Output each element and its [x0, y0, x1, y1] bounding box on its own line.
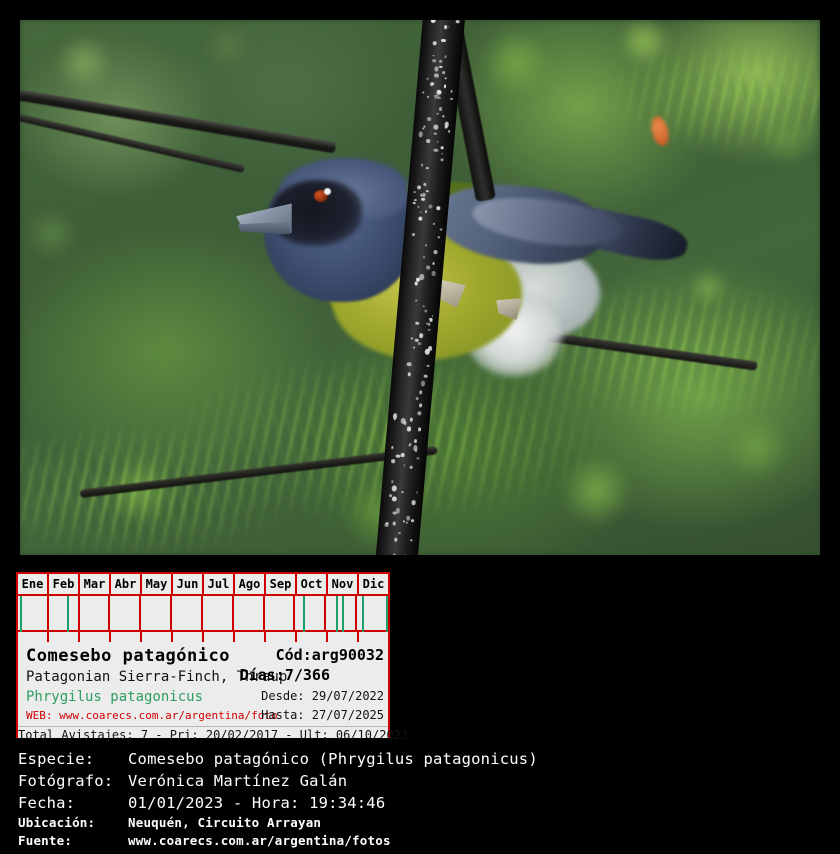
branch-speckle: [422, 91, 424, 93]
branch-speckle: [413, 347, 415, 349]
branch-speckle: [432, 271, 436, 276]
branch-speckle: [432, 59, 436, 63]
calendar-col-feb: [49, 596, 80, 630]
sighting-tick: [386, 596, 388, 632]
branch-speckle: [441, 153, 443, 155]
branch-speckle: [391, 485, 396, 491]
branch-speckle: [436, 206, 441, 210]
ubicacion-value: Neuquén, Circuito Arrayan: [128, 814, 321, 832]
calendar-col-mar: [80, 596, 111, 630]
branch-speckle: [396, 454, 401, 458]
branch-speckle: [423, 256, 425, 259]
branch-speckle: [416, 491, 418, 493]
branch-speckle: [434, 95, 438, 99]
branch-speckle: [393, 413, 398, 419]
calendar-foot-may: [142, 632, 173, 642]
branch-speckle: [424, 309, 427, 313]
branch-speckle: [431, 315, 433, 317]
branch-speckle: [391, 480, 394, 483]
branch-speckle: [448, 26, 450, 28]
branch-speckle: [422, 193, 425, 196]
branch-speckle: [448, 130, 450, 133]
branch-speckle: [417, 186, 421, 190]
branch-speckle: [421, 163, 424, 166]
branch-speckle: [413, 201, 416, 203]
branch-speckle: [456, 20, 459, 23]
branch-speckle: [419, 132, 423, 138]
calendar-month-abr: Abr: [111, 574, 142, 594]
branch-speckle: [419, 404, 423, 408]
fotografo-label: Fotógrafo:: [18, 770, 128, 792]
branch-speckle: [418, 216, 422, 221]
calendar-month-oct: Oct: [297, 574, 328, 594]
branch-speckle: [426, 265, 430, 269]
branch-speckle: [444, 78, 446, 80]
branch-speckle: [401, 491, 403, 493]
branch-speckle: [439, 107, 443, 111]
branch-speckle: [413, 439, 417, 443]
branch-speckle: [426, 323, 428, 325]
branch-speckle: [434, 133, 437, 136]
calendar-sighting-track: [18, 596, 388, 632]
branch-speckle: [391, 446, 394, 449]
branch-speckle: [432, 262, 435, 265]
calendar-foot-jul: [204, 632, 235, 642]
calendar-col-sep: [265, 596, 296, 630]
branch-speckle: [427, 364, 429, 367]
branch-speckle: [434, 148, 439, 152]
especie-label: Especie:: [18, 748, 128, 770]
calendar-foot-oct: [297, 632, 328, 642]
branch-speckle: [420, 274, 425, 280]
calendar-month-nov: Nov: [328, 574, 359, 594]
branch-speckle: [433, 250, 437, 255]
branch-speckle: [395, 508, 400, 514]
metadata-row-ubicacion: Ubicación: Neuquén, Circuito Arrayan: [18, 814, 822, 832]
branch-speckle: [418, 411, 422, 415]
calendar-month-dic: Dic: [359, 574, 388, 594]
branch-speckle: [423, 305, 425, 307]
especie-value: Comesebo patagónico (Phrygilus patagonic…: [128, 748, 538, 770]
range-to: Hasta: 27/07/2025: [261, 709, 384, 721]
branch-speckle: [415, 450, 417, 453]
calendar-col-jun: [172, 596, 203, 630]
calendar-col-may: [141, 596, 172, 630]
common-name: Comesebo patagónico: [26, 648, 230, 665]
fecha-value: 01/01/2023 - Hora: 19:34:46: [128, 792, 385, 814]
branch-speckle: [442, 71, 446, 74]
branch-speckle: [423, 183, 426, 186]
branch-speckle: [426, 190, 428, 192]
branch-speckle: [432, 41, 437, 46]
branch-speckle: [420, 380, 425, 386]
sighting-tick: [303, 596, 305, 632]
branch-speckle: [428, 204, 432, 208]
branch-speckle: [407, 362, 412, 367]
sighting-tick: [20, 596, 22, 632]
calendar-month-may: May: [142, 574, 173, 594]
calendar-footer-grid: [18, 632, 388, 642]
branch-speckle: [433, 222, 436, 224]
calendar-foot-mar: [80, 632, 111, 642]
branch-speckle: [409, 443, 412, 446]
branch-speckle: [428, 346, 432, 351]
branch-speckle: [437, 141, 439, 143]
branch-speckle: [425, 244, 428, 247]
calendar-foot-feb: [49, 632, 80, 642]
web-label: WEB:: [26, 709, 53, 722]
branch-speckle: [408, 372, 411, 376]
branch-speckle: [427, 328, 430, 331]
calendar-month-header: EneFebMarAbrMayJunJulAgoSepOctNovDic: [18, 574, 388, 596]
branch-speckle: [450, 97, 454, 100]
ubicacion-label: Ubicación:: [18, 814, 128, 832]
branch-speckle: [417, 205, 419, 208]
branch-speckle: [439, 228, 443, 231]
calendar-foot-dic: [359, 632, 388, 642]
branch-speckle: [424, 210, 426, 213]
branch-speckle: [428, 323, 430, 326]
calendar-col-oct: [295, 596, 326, 630]
metadata-row-fuente: Fuente: www.coarecs.com.ar/argentina/fot…: [18, 832, 822, 850]
branch-speckle: [442, 115, 444, 117]
calendar-foot-ago: [235, 632, 266, 642]
branch-speckle: [413, 191, 415, 193]
branch-speckle: [419, 390, 422, 394]
branch-speckle: [417, 341, 422, 345]
bird-eye-highlight: [324, 188, 331, 195]
branch-speckle: [389, 494, 392, 497]
metadata-row-especie: Especie: Comesebo patagónico (Phrygilus …: [18, 748, 822, 770]
branch-speckle: [403, 520, 405, 523]
web-link[interactable]: WEB: www.coarecs.com.ar/argentina/foto: [26, 710, 278, 721]
branch-speckle: [406, 516, 410, 521]
monthly-sightings-calendar: EneFebMarAbrMayJunJulAgoSepOctNovDic: [18, 574, 388, 644]
branch-speckle: [425, 139, 430, 143]
calendar-month-mar: Mar: [80, 574, 111, 594]
branch-speckle: [440, 158, 444, 161]
branch-speckle: [384, 523, 389, 527]
metadata-row-fecha: Fecha: 01/01/2023 - Hora: 19:34:46: [18, 792, 822, 814]
calendar-month-sep: Sep: [266, 574, 297, 594]
branch-speckle: [411, 500, 416, 505]
branch-speckle: [434, 125, 439, 130]
branch-speckle: [421, 198, 425, 202]
branch-speckle: [414, 282, 417, 285]
sighting-tick: [67, 596, 69, 632]
web-url: www.coarecs.com.ar/argentina/foto: [59, 709, 278, 722]
branch-speckle: [433, 55, 435, 57]
branch-speckle: [445, 126, 447, 129]
calendar-foot-sep: [266, 632, 297, 642]
calendar-month-ago: Ago: [235, 574, 266, 594]
range-from: Desde: 29/07/2022: [261, 690, 384, 702]
branch-speckle: [427, 116, 431, 120]
calendar-col-ago: [234, 596, 265, 630]
branch-speckle: [441, 39, 446, 43]
branch-speckle: [409, 418, 412, 422]
branch-speckle: [419, 333, 423, 338]
branch-speckle: [398, 532, 401, 535]
branch-speckle: [392, 496, 397, 501]
branch-speckle: [444, 85, 447, 89]
photo-metadata: Especie: Comesebo patagónico (Phrygilus …: [18, 748, 822, 850]
metadata-row-fotografo: Fotógrafo: Verónica Martínez Galán: [18, 770, 822, 792]
branch-speckle: [415, 300, 417, 302]
branch-speckle: [422, 128, 424, 130]
fotografo-value: Verónica Martínez Galán: [128, 770, 347, 792]
branch-speckle: [424, 375, 428, 378]
branch-speckle: [425, 167, 428, 170]
calendar-foot-jun: [173, 632, 204, 642]
branch-speckle: [391, 459, 395, 463]
branch-speckle: [436, 112, 439, 114]
branch-speckle: [426, 77, 428, 79]
branch-speckle: [417, 457, 420, 459]
branch-speckle: [404, 465, 406, 466]
fuente-label: Fuente:: [18, 832, 128, 850]
sighting-tick: [362, 596, 364, 632]
calendar-col-ene: [18, 596, 49, 630]
total-sightings: Total Avistajes: 7 - Pri: 20/02/2017 - U…: [18, 726, 388, 741]
calendar-month-jul: Jul: [204, 574, 235, 594]
fuente-value: www.coarecs.com.ar/argentina/fotos: [128, 832, 391, 850]
branch-speckle: [415, 322, 419, 325]
branch-speckle: [430, 82, 433, 86]
calendar-col-jul: [203, 596, 234, 630]
branch-speckle: [444, 55, 447, 58]
calendar-col-abr: [110, 596, 141, 630]
calendar-foot-abr: [111, 632, 142, 642]
branch-speckle: [420, 211, 422, 212]
branch-speckle: [434, 73, 439, 78]
calendar-month-ene: Ene: [18, 574, 49, 594]
branch-speckle: [411, 233, 415, 237]
branch-speckle: [430, 318, 433, 322]
branch-speckle: [431, 20, 436, 23]
sighting-tick: [342, 596, 344, 632]
scientific-name: Phrygilus patagonicus: [26, 690, 203, 704]
sighting-tick: [336, 596, 338, 632]
branch-speckle: [394, 538, 397, 542]
calendar-foot-nov: [328, 632, 359, 642]
branch-speckle: [393, 554, 396, 555]
species-info-card: EneFebMarAbrMayJunJulAgoSepOctNovDic Com…: [16, 572, 390, 738]
branch-speckle: [406, 521, 408, 523]
branch-speckle: [441, 146, 444, 150]
calendar-month-feb: Feb: [49, 574, 80, 594]
branch-speckle: [427, 96, 429, 98]
days-count: Días:7/366: [240, 668, 330, 683]
branch-speckle: [416, 397, 419, 400]
branch-speckle: [439, 60, 443, 63]
fecha-label: Fecha:: [18, 792, 128, 814]
calendar-month-jun: Jun: [173, 574, 204, 594]
calendar-foot-ene: [18, 632, 49, 642]
branch-speckle: [411, 338, 413, 340]
branch-speckle: [410, 466, 413, 469]
branch-speckle: [392, 522, 396, 526]
bird-photo: [20, 20, 820, 555]
branch-speckle: [401, 452, 406, 457]
branch-speckle: [418, 427, 422, 431]
branch-speckle: [438, 236, 440, 238]
species-code: Cód:arg90032: [276, 648, 384, 663]
species-details: Comesebo patagónico Patagonian Sierra-Fi…: [18, 644, 388, 738]
branch-speckle: [451, 90, 453, 92]
branch-speckle: [411, 519, 414, 522]
